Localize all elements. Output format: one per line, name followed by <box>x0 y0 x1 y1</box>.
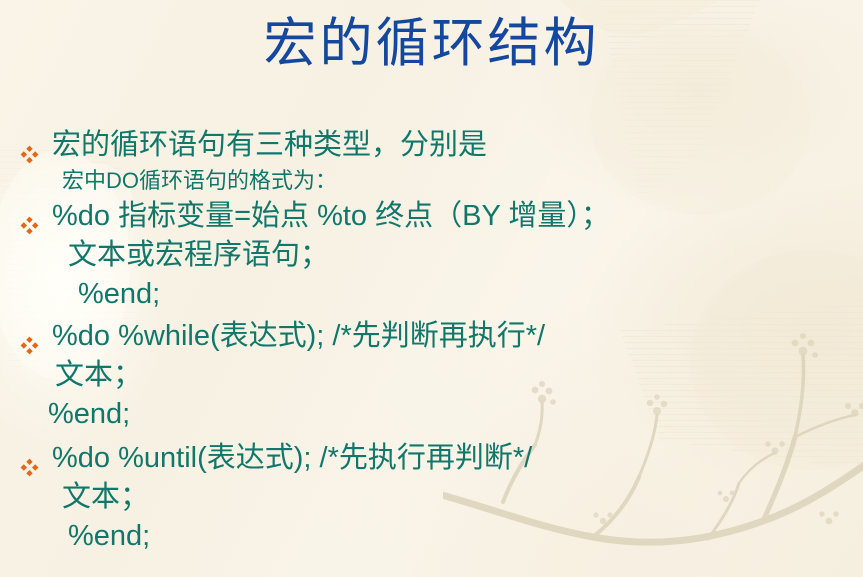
bullet-line: %do %until(表达式); /*先执行再判断*/ <box>0 439 863 478</box>
continuation-line: 文本； <box>0 356 863 395</box>
continuation-line: %end; <box>0 395 863 434</box>
continuation-line: 文本或宏程序语句； <box>0 236 863 275</box>
slide-canvas: 宏的循环结构 宏的循环语句有三种类型，分别是宏中DO循环语句的格式为：%do 指… <box>0 0 863 577</box>
continuation-line: %end; <box>0 517 863 556</box>
diamond-cluster-bullet-icon <box>20 327 39 346</box>
continuation-line: %end; <box>0 275 863 314</box>
diamond-cluster-bullet-icon <box>20 449 39 468</box>
bullet-line: %do %while(表达式); /*先判断再执行*/ <box>0 317 863 356</box>
diamond-cluster-bullet-icon <box>20 207 39 226</box>
diamond-cluster-bullet-icon <box>20 136 39 155</box>
continuation-line: 文本； <box>0 478 863 517</box>
continuation-line: 宏中DO循环语句的格式为： <box>0 165 863 197</box>
slide-body: 宏的循环语句有三种类型，分别是宏中DO循环语句的格式为：%do 指标变量=始点 … <box>0 126 863 556</box>
bullet-line: 宏的循环语句有三种类型，分别是 <box>0 126 863 165</box>
bullet-line: %do 指标变量=始点 %to 终点（BY 增量）； <box>0 197 863 236</box>
slide-title: 宏的循环结构 <box>0 14 863 73</box>
